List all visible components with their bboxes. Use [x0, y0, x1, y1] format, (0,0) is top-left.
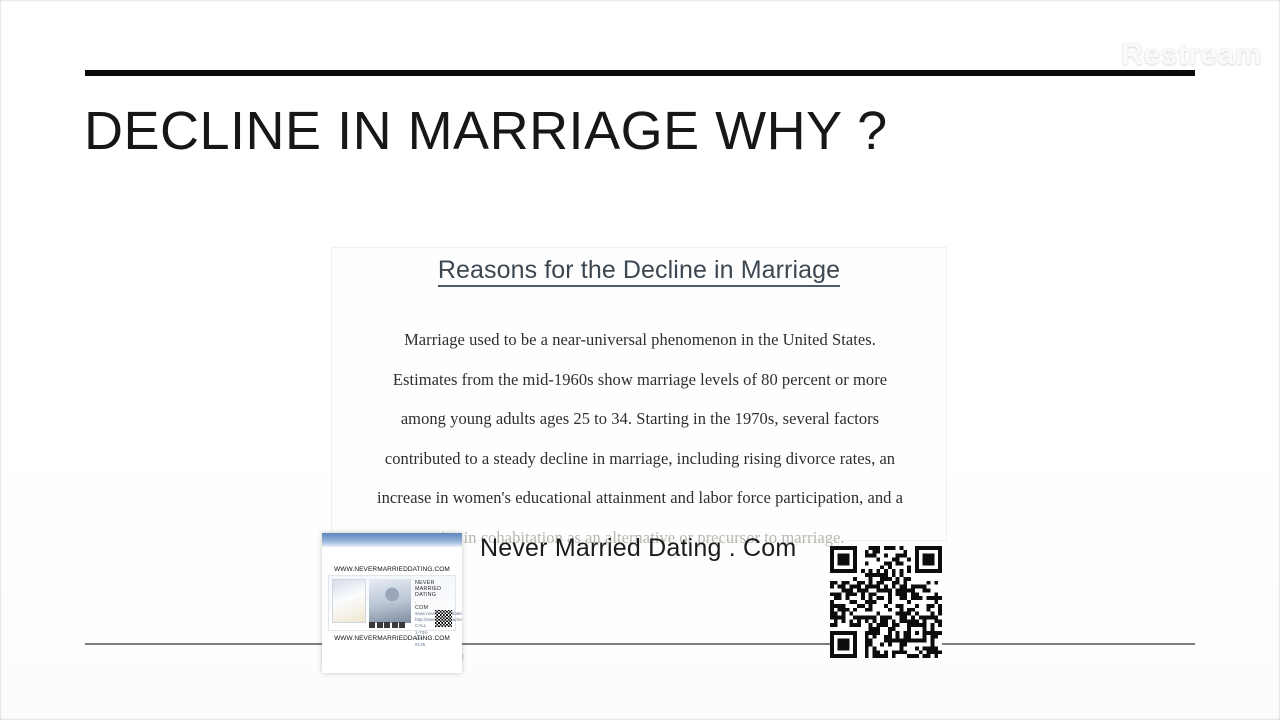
social-icon	[377, 622, 383, 628]
article-line: increase in women's educational attainme…	[342, 478, 938, 518]
overlay-banner-text: Never Married Dating . Com	[480, 534, 796, 563]
social-icon	[399, 622, 405, 628]
card-url-bottom: WWW.NEVERMARRIEDDATING.COM	[322, 635, 462, 642]
article-line: among young adults ages 25 to 34. Starti…	[342, 399, 938, 439]
business-card-overlay: WWW.NEVERMARRIEDDATING.COM NEVER MARRIED…	[322, 533, 462, 673]
qr-code-icon	[830, 546, 942, 658]
embedded-article-body: Marriage used to be a near-universal phe…	[342, 320, 938, 557]
stream-canvas: Restream DECLINE IN MARRIAGE WHY ? Reaso…	[0, 0, 1280, 720]
article-line: Marriage used to be a near-universal phe…	[342, 320, 938, 360]
social-icon	[369, 622, 375, 628]
embedded-article-heading: Reasons for the Decline in Marriage	[332, 256, 946, 285]
card-couple-photo	[369, 579, 411, 623]
card-qr-code-icon	[435, 610, 452, 627]
article-line: contributed to a steady decline in marri…	[342, 439, 938, 479]
card-social-icons	[369, 622, 405, 628]
card-thumbnail-image	[332, 579, 366, 623]
card-artwork: NEVER MARRIED DATING . COM www.nevermarr…	[328, 575, 456, 631]
slide-top-rule	[85, 70, 1195, 76]
restream-watermark: Restream	[1121, 38, 1262, 72]
article-line: Estimates from the mid-1960s show marria…	[342, 360, 938, 400]
social-icon	[384, 622, 390, 628]
page-title: DECLINE IN MARRIAGE WHY ?	[84, 100, 888, 162]
card-brand-line3: DATING . COM	[415, 592, 431, 611]
embedded-article-heading-text: Reasons for the Decline in Marriage	[438, 256, 840, 287]
social-icon	[392, 622, 398, 628]
embedded-article-image: Reasons for the Decline in Marriage Marr…	[332, 248, 946, 540]
card-header-bar	[322, 533, 462, 547]
card-url-top: WWW.NEVERMARRIEDDATING.COM	[322, 566, 462, 573]
slide-bottom-rule	[85, 643, 1195, 645]
